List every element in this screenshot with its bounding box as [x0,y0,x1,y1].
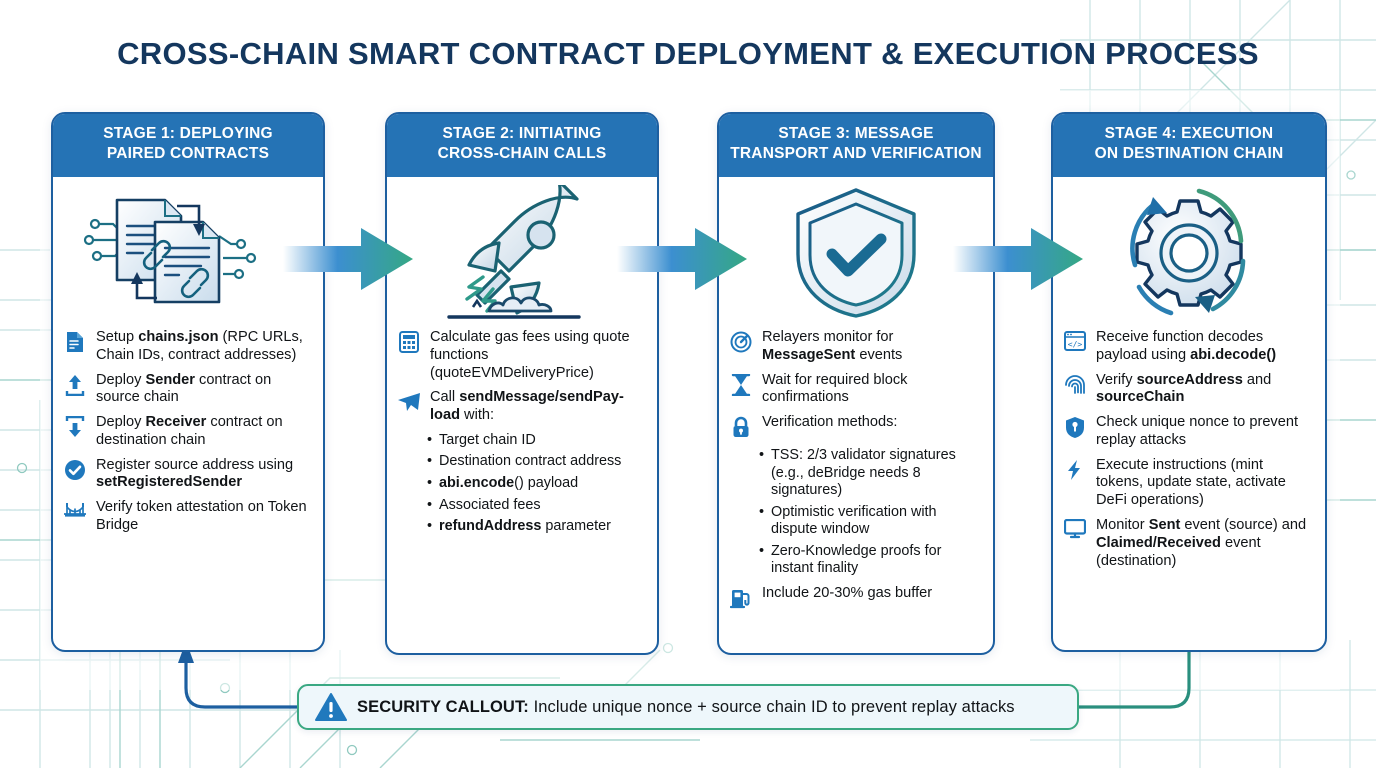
stage-card-1[interactable]: STAGE 1: DEPLOYING PAIRED CONTRACTS [51,112,325,652]
stage-2-step-list: Calculate gas fees using quote functions… [397,329,645,425]
bridge-icon [63,501,87,525]
list-item: Verify sourceAddress and sourceChain [1063,372,1313,408]
security-callout-text: SECURITY CALLOUT: Include unique nonce +… [357,698,1015,717]
stage-card-4[interactable]: STAGE 4: EXECUTION ON DESTINATION CHAIN [1051,112,1327,652]
list-item: Include 20-30% gas buffer [729,585,981,611]
list-item: Deploy Receiver contract on destination … [63,414,311,450]
stage-4-step-list: </> Receive function decodes payload usi… [1063,329,1313,571]
list-item: Verification methods: [729,414,981,440]
step-text: Call sendMessage/sendPay-load with: [430,389,645,425]
stage-card-3-header: STAGE 3: MESSAGE TRANSPORT AND VERIFICAT… [719,114,993,177]
gauge-icon [729,331,753,355]
stage-card-1-body: Setup chains.json (RPC URLs, Chain IDs, … [53,325,323,650]
stage-1-header-line1: STAGE 1: DEPLOYING [61,124,315,144]
step-text: Deploy Receiver contract on destination … [96,414,311,450]
stage-2-header-line1: STAGE 2: INITIATING [395,124,649,144]
stage-3-step-list: Relayers monitor for MessageSent events … [729,329,981,440]
list-item: Wait for required block confirmations [729,372,981,408]
list-item: Relayers monitor for MessageSent events [729,329,981,365]
step-text: Execute instructions (mint tokens, updat… [1096,457,1313,510]
document-config-icon [63,331,87,355]
code-window-icon: </> [1063,331,1087,355]
page-title: CROSS-CHAIN SMART CONTRACT DEPLOYMENT & … [0,36,1376,72]
list-item: Destination contract address [427,453,645,471]
lightning-bolt-icon [1063,459,1087,483]
stage-card-4-header: STAGE 4: EXECUTION ON DESTINATION CHAIN [1053,114,1325,177]
list-item: Call sendMessage/sendPay-load with: [397,389,645,425]
list-item: Execute instructions (mint tokens, updat… [1063,457,1313,510]
stage-card-4-body: </> Receive function decodes payload usi… [1053,325,1325,650]
check-circle-icon [63,459,87,483]
hourglass-icon [729,374,753,398]
fingerprint-icon [1063,374,1087,398]
feedback-connector-right [1079,652,1189,707]
step-text: Verify token attestation on Token Bridge [96,499,311,535]
list-item: Deploy Sender contract on source chain [63,372,311,408]
svg-text:</>: </> [1068,340,1083,349]
list-item: Verify token attestation on Token Bridge [63,499,311,535]
upload-arrow-icon [63,374,87,398]
step-text: Setup chains.json (RPC URLs, Chain IDs, … [96,329,311,365]
list-item: Associated fees [427,497,645,515]
step-text: Calculate gas fees using quote functions… [430,329,645,382]
stage-card-2-header: STAGE 2: INITIATING CROSS-CHAIN CALLS [387,114,657,177]
security-callout-label: SECURITY CALLOUT: [357,698,529,716]
list-item: Check unique nonce to prevent replay att… [1063,414,1313,450]
list-item: Target chain ID [427,432,645,450]
security-callout[interactable]: SECURITY CALLOUT: Include unique nonce +… [297,684,1079,730]
stage-card-2[interactable]: STAGE 2: INITIATING CROSS-CHAIN CALLS [385,112,659,655]
calculator-icon [397,331,421,355]
list-item: Setup chains.json (RPC URLs, Chain IDs, … [63,329,311,365]
arrow-stage1-to-stage2 [283,228,413,290]
list-item: abi.encode() payload [427,475,645,493]
feedback-connector-left [186,660,297,707]
stage-3-sublist: TSS: 2/3 validator signatures (e.g., deB… [759,447,981,578]
stage-card-3-body: Relayers monitor for MessageSent events … [719,325,993,653]
step-text: Receive function decodes payload using a… [1096,329,1313,365]
list-item: TSS: 2/3 validator signatures (e.g., deB… [759,447,981,500]
step-text: Monitor Sent event (source) and Claimed/… [1096,517,1313,570]
stage-3-step-list-end: Include 20-30% gas buffer [729,585,981,611]
lock-icon [729,416,753,440]
step-text: Deploy Sender contract on source chain [96,372,311,408]
step-text: Register source address using setRegiste… [96,457,311,493]
stage-card-3[interactable]: STAGE 3: MESSAGE TRANSPORT AND VERIFICAT… [717,112,995,655]
step-text: Relayers monitor for MessageSent events [762,329,981,365]
stage-1-step-list: Setup chains.json (RPC URLs, Chain IDs, … [63,329,311,535]
step-text: Wait for required block confirmations [762,372,981,408]
list-item: Register source address using setRegiste… [63,457,311,493]
arrow-stage3-to-stage4 [953,228,1083,290]
monitor-icon [1063,519,1087,543]
step-text: Check unique nonce to prevent replay att… [1096,414,1313,450]
stage-1-header-line2: PAIRED CONTRACTS [61,144,315,164]
step-text: Verification methods: [762,414,897,432]
download-arrow-icon [63,416,87,440]
stage-2-header-line2: CROSS-CHAIN CALLS [395,144,649,164]
stage-3-header-line2: TRANSPORT AND VERIFICATION [727,144,985,164]
shield-key-icon [1063,416,1087,440]
gear-cycle-icon [1053,177,1325,325]
stage-3-header-line1: STAGE 3: MESSAGE [727,124,985,144]
fuel-pump-icon [729,587,753,611]
security-callout-body: Include unique nonce + source chain ID t… [529,698,1015,716]
shield-check-icon [719,177,993,325]
stage-card-2-body: Calculate gas fees using quote functions… [387,325,657,653]
list-item: refundAddress parameter [427,518,645,536]
list-item: </> Receive function decodes payload usi… [1063,329,1313,365]
step-text: Verify sourceAddress and sourceChain [1096,372,1313,408]
arrow-stage2-to-stage3 [617,228,747,290]
stage-2-sublist: Target chain ID Destination contract add… [427,432,645,536]
list-item: Zero-Knowledge proofs for instant finali… [759,543,981,578]
list-item: Monitor Sent event (source) and Claimed/… [1063,517,1313,570]
list-item: Optimistic verification with dispute win… [759,504,981,539]
warning-triangle-icon [315,692,347,722]
stage-4-header-line2: ON DESTINATION CHAIN [1061,144,1317,164]
list-item: Calculate gas fees using quote functions… [397,329,645,382]
stage-4-header-line1: STAGE 4: EXECUTION [1061,124,1317,144]
paper-plane-icon [397,391,421,415]
stage-card-1-header: STAGE 1: DEPLOYING PAIRED CONTRACTS [53,114,323,177]
step-text: Include 20-30% gas buffer [762,585,932,603]
